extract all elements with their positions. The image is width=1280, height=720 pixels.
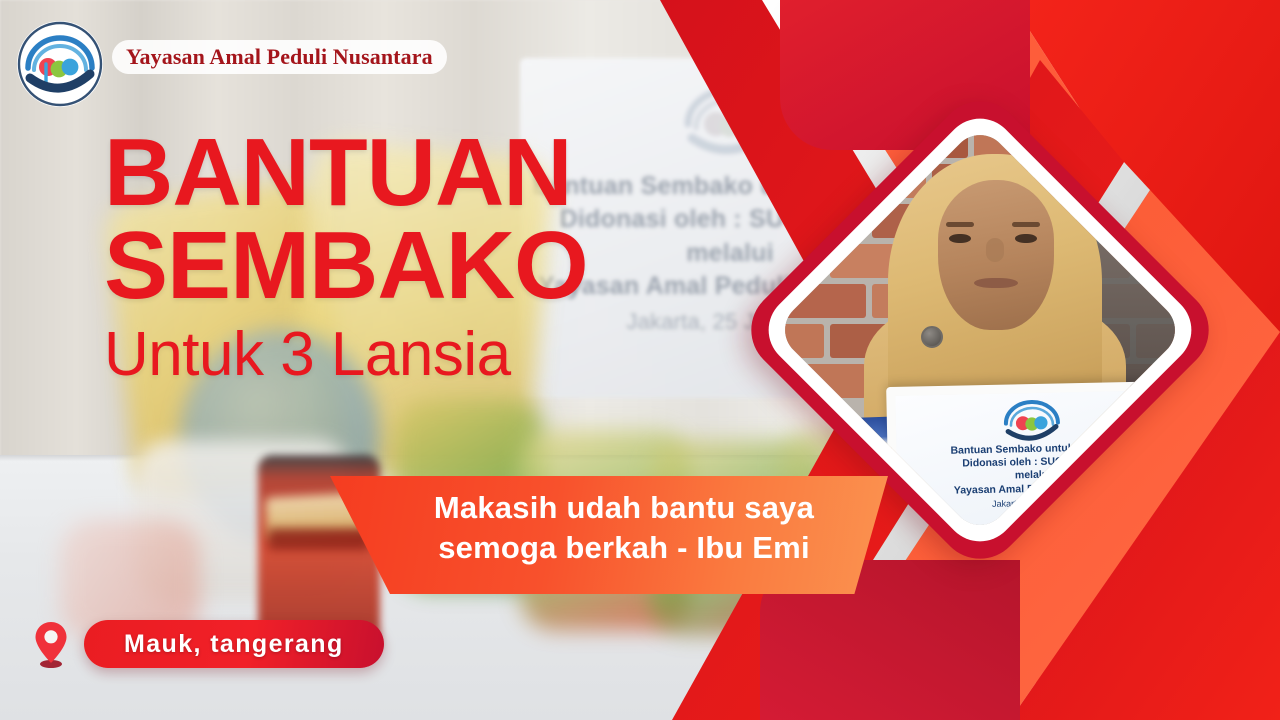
organization-name: Yayasan Amal Peduli Nusantara — [126, 44, 433, 70]
quote-line1: Makasih udah bantu saya — [384, 488, 864, 528]
poster-canvas: Bantuan Sembako untuk Ibu Emi Didonasi o… — [0, 0, 1280, 720]
quote-line2: semoga berkah - Ibu Emi — [384, 528, 864, 568]
location-label: Mauk, tangerang — [124, 630, 344, 659]
headline-subtitle: Untuk 3 Lansia — [104, 322, 744, 389]
apn-circle-logo-icon — [16, 20, 104, 108]
headline-line2: SEMBAKO — [104, 219, 744, 312]
quote-text: Makasih udah bantu saya semoga berkah - … — [384, 488, 864, 567]
organization-name-badge: Yayasan Amal Peduli Nusantara — [112, 40, 447, 74]
map-pin-icon — [32, 620, 70, 668]
signature-mark-icon — [1118, 533, 1144, 537]
quote-banner: Makasih udah bantu saya semoga berkah - … — [328, 472, 888, 594]
location-badge: Mauk, tangerang — [32, 620, 384, 668]
location-pill: Mauk, tangerang — [84, 620, 384, 668]
photo-brooch — [921, 326, 943, 348]
headline-line1: BANTUAN — [104, 126, 744, 219]
headline-block: BANTUAN SEMBAKO Untuk 3 Lansia — [104, 126, 744, 389]
apn-logo-icon-certificate — [998, 397, 1065, 444]
